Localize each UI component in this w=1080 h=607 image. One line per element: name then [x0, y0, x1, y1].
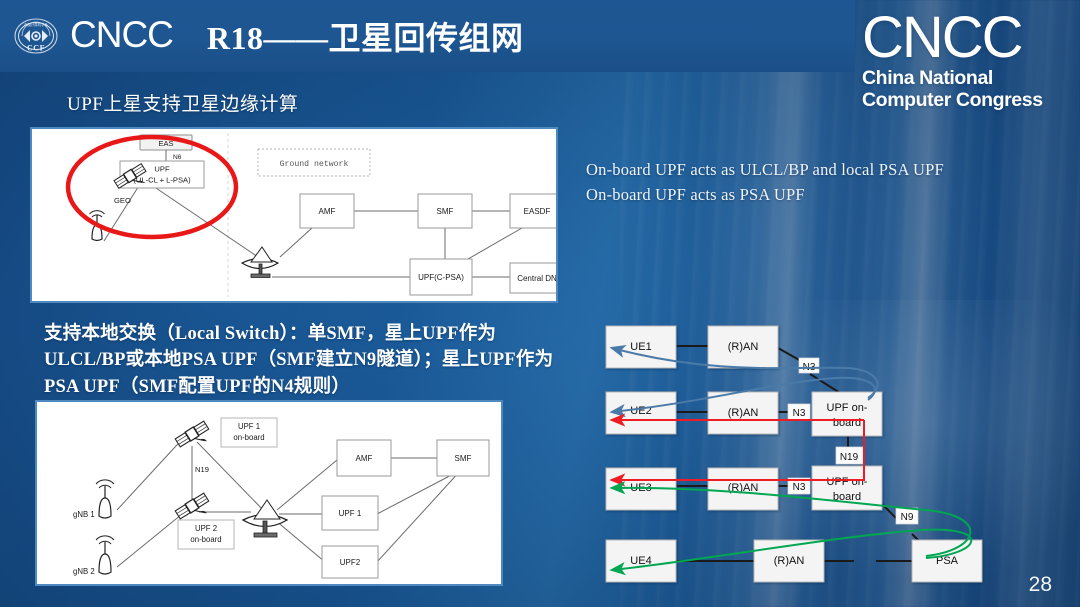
node-amf: AMF [300, 194, 354, 228]
page-title: R18——卫星回传组网 [207, 13, 524, 59]
cncc-brand-line2: Computer Congress [862, 90, 1062, 112]
node-upf-cpsa: UPF(C-PSA) [410, 259, 472, 295]
ground-station-dish-icon [242, 247, 278, 278]
node-upf-sublabel: (UL-CL + L-PSA) [133, 176, 191, 185]
link-label-n19: N19 [836, 447, 863, 464]
annotation-geo: GEO [114, 196, 131, 205]
section-heading-middle: 支持本地交换（Local Switch）：单SMF，星上UPF作为 ULCL/B… [44, 321, 564, 400]
satellite-icon [175, 421, 214, 455]
node-ground-network-label: Ground network [280, 159, 349, 169]
edge-label-n6: N6 [173, 154, 182, 161]
link-label-n9: N9 [896, 508, 918, 524]
node-easdf-label: EASDF [524, 207, 551, 216]
node-upf-cpsa-label: UPF(C-PSA) [418, 273, 464, 282]
gnb-antenna-icon [96, 536, 114, 574]
local-switch-diagram: N19 [37, 402, 501, 584]
note-line-2: On-board UPF acts as PSA UPF [586, 185, 805, 205]
link-label-n3-row1: N3 [799, 358, 819, 373]
svg-text:N9: N9 [901, 512, 914, 523]
node-psa: PSA [912, 540, 982, 582]
svg-text:CCF: CCF [27, 44, 45, 53]
node-upf1-onboard: UPF 1 on-board [221, 418, 277, 447]
node-ue4: UE4 [606, 540, 676, 582]
node-upf1-onboard-line2: on-board [233, 433, 264, 442]
node-upf-label: UPF [154, 165, 170, 174]
node-upf1-label: UPF 1 [339, 509, 362, 518]
node-amf-label: AMF [356, 454, 373, 463]
gnb-antenna-icon [96, 480, 114, 518]
node-upf-onboard-row2-line2: board [833, 417, 861, 429]
node-smf: SMF [418, 194, 472, 228]
annotation-gnb1: gNB 1 [73, 510, 95, 519]
node-smf-label: SMF [455, 454, 472, 463]
node-ran-row3: (R)AN [708, 468, 778, 510]
diagram-panel-bottom: N19 [35, 400, 503, 586]
node-upf-onboard-row3: UPF on- board [812, 466, 882, 510]
cncc-brand-line1: China National [862, 68, 1062, 90]
node-ran-row1: (R)AN [708, 326, 778, 368]
svg-text:中国计算机学会: 中国计算机学会 [24, 22, 48, 27]
diagram-panel-top: EAS N6 UPF (UL-CL + L-PSA) [30, 127, 558, 303]
cncc-brand-acronym: CNCC [862, 10, 1062, 65]
node-upf2-onboard: UPF 2 on-board [178, 520, 234, 549]
node-ground-network: Ground network [258, 149, 370, 176]
note-line-1: On-board UPF acts as ULCL/BP and local P… [586, 160, 944, 180]
cncc-brand-block: CNCC China National Computer Congress [862, 10, 1062, 112]
node-ran-row2: (R)AN [708, 392, 778, 434]
header-brand-word: CNCC [70, 16, 173, 53]
node-ue2: UE2 [606, 392, 676, 434]
edge-label-n19: N19 [195, 465, 209, 474]
slide-canvas: CCF 中国计算机学会 CNCC R18——卫星回传组网 CNCC China … [0, 0, 1080, 607]
node-amf: AMF [337, 440, 391, 476]
node-upf-onboard-row2-line1: UPF on- [827, 402, 868, 414]
node-ran-row4-label: (R)AN [774, 555, 805, 567]
node-upf-onboard-row3-line1: UPF on- [827, 476, 868, 488]
node-ue1-label: UE1 [630, 341, 651, 353]
node-upf-onboard-row2: UPF on- board [812, 392, 882, 436]
ue-ran-upf-flow-diagram: UE1 (R)AN UE2 (R)AN UPF on- board [596, 316, 1000, 592]
slide-header: CCF 中国计算机学会 CNCC R18——卫星回传组网 [0, 0, 855, 72]
section-heading-top: UPF上星支持卫星边缘计算 [67, 89, 298, 116]
link-label-n3-row2: N3 [788, 404, 810, 420]
node-easdf: EASDF [510, 194, 556, 228]
node-upf2-onboard-line2: on-board [190, 535, 221, 544]
node-ran-row2-label: (R)AN [728, 407, 759, 419]
node-upf1-onboard-line1: UPF 1 [238, 422, 260, 431]
node-amf-label: AMF [319, 207, 336, 216]
svg-text:N3: N3 [793, 482, 806, 493]
ground-station-dish-icon [243, 500, 287, 537]
node-upf1: UPF 1 [322, 496, 378, 530]
node-upf2-label: UPF2 [340, 558, 361, 567]
page-number: 28 [1029, 573, 1052, 597]
svg-text:N19: N19 [840, 452, 859, 463]
node-smf-label: SMF [437, 207, 454, 216]
node-central-dn: Central DN [510, 263, 556, 293]
annotation-gnb2: gNB 2 [73, 567, 95, 576]
ccf-emblem-icon: CCF 中国计算机学会 [14, 14, 58, 58]
node-ue1: UE1 [606, 326, 676, 368]
node-central-dn-label: Central DN [517, 274, 556, 283]
node-upf2-onboard-line1: UPF 2 [195, 524, 217, 533]
node-ran-row1-label: (R)AN [728, 341, 759, 353]
node-upf2: UPF2 [322, 546, 378, 578]
svg-text:N3: N3 [793, 408, 806, 419]
upf-satellite-edge-diagram: EAS N6 UPF (UL-CL + L-PSA) [32, 129, 556, 301]
node-smf: SMF [437, 440, 489, 476]
